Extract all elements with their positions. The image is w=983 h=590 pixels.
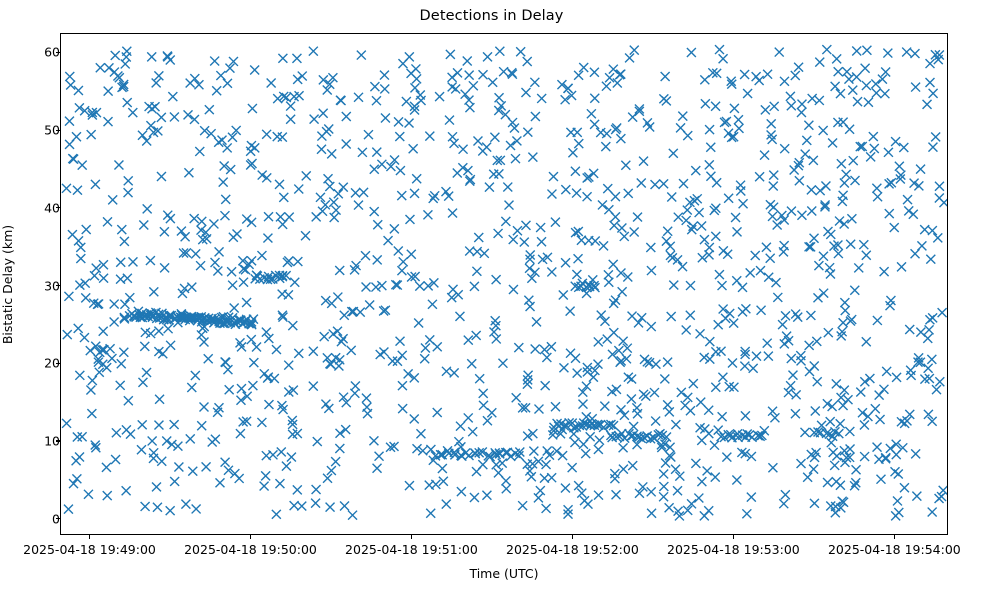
data-point (844, 75, 853, 84)
data-point (840, 298, 849, 307)
data-point (884, 148, 893, 157)
data-point (620, 411, 629, 420)
data-point (69, 479, 78, 488)
data-point (293, 75, 302, 84)
data-point (312, 212, 321, 221)
data-point (659, 492, 668, 501)
data-point (88, 376, 97, 385)
data-point (76, 254, 85, 263)
data-point (802, 136, 811, 145)
data-point (117, 225, 126, 234)
data-point (184, 110, 193, 119)
data-point (784, 388, 793, 397)
data-point (363, 409, 372, 418)
data-point-group (62, 45, 947, 520)
data-point (373, 464, 382, 473)
data-point (537, 94, 546, 103)
data-point (833, 118, 842, 127)
data-point (814, 261, 823, 270)
data-point (467, 359, 476, 368)
data-point (398, 404, 407, 413)
data-point (482, 491, 491, 500)
data-point (186, 434, 195, 443)
data-point (450, 139, 459, 148)
data-point (137, 445, 146, 454)
data-point (340, 501, 349, 510)
x-tick-mark (733, 535, 734, 539)
data-point (311, 499, 320, 508)
data-point (894, 469, 903, 478)
data-point (247, 218, 256, 227)
data-point (530, 78, 539, 87)
data-point (894, 508, 903, 517)
data-point (330, 213, 339, 222)
x-tick-mark (89, 535, 90, 539)
data-point (435, 92, 444, 101)
data-point (612, 490, 621, 499)
data-point (723, 250, 732, 259)
data-point (223, 79, 232, 88)
data-point (932, 385, 941, 394)
data-point (791, 71, 800, 80)
data-point (310, 115, 319, 124)
data-point (492, 275, 501, 284)
data-point (821, 200, 830, 209)
data-point (354, 93, 363, 102)
data-point (114, 161, 123, 170)
data-point (762, 243, 771, 252)
data-point (170, 112, 179, 121)
data-point (74, 236, 83, 245)
data-point (362, 394, 371, 403)
data-point (410, 83, 419, 92)
data-point (158, 349, 167, 358)
data-point (873, 316, 882, 325)
data-point (749, 364, 758, 373)
data-point (220, 211, 229, 220)
data-point (751, 251, 760, 260)
data-point (703, 466, 712, 475)
data-point (728, 358, 737, 367)
data-point (297, 502, 306, 511)
data-point (583, 363, 592, 372)
data-point (617, 405, 626, 414)
data-point (267, 79, 276, 88)
data-point (498, 459, 507, 468)
data-point (103, 491, 112, 500)
data-point (464, 336, 473, 345)
data-point (666, 443, 675, 452)
data-point (425, 132, 434, 141)
data-point (73, 186, 82, 195)
data-point (852, 465, 861, 474)
data-point (65, 117, 74, 126)
data-point (659, 179, 668, 188)
data-point (880, 267, 889, 276)
data-point (780, 77, 789, 86)
data-point (442, 367, 451, 376)
data-point (873, 192, 882, 201)
data-point (425, 481, 434, 490)
data-point (104, 87, 113, 96)
data-point (938, 308, 947, 317)
data-point (154, 71, 163, 80)
data-point (700, 75, 709, 84)
data-point (116, 258, 125, 267)
data-point (463, 57, 472, 66)
data-point (66, 81, 75, 90)
data-point (741, 411, 750, 420)
data-point (769, 182, 778, 191)
data-point (618, 287, 627, 296)
data-point (221, 358, 230, 367)
data-point (410, 414, 419, 423)
data-point (174, 463, 183, 472)
data-point (64, 292, 73, 301)
data-point (87, 130, 96, 139)
data-point (166, 341, 175, 350)
data-point (662, 237, 671, 246)
data-point (872, 89, 881, 98)
data-point (472, 331, 481, 340)
data-point (349, 307, 358, 316)
data-point (194, 80, 203, 89)
data-point (64, 505, 73, 514)
data-point (630, 46, 639, 55)
data-point (111, 51, 120, 60)
data-point (669, 149, 678, 158)
data-point (790, 166, 799, 175)
data-point (800, 428, 809, 437)
data-point (488, 78, 497, 87)
data-point (849, 156, 858, 165)
x-tick-mark (894, 535, 895, 539)
data-point (262, 130, 271, 139)
data-point (781, 311, 790, 320)
x-tick-mark (411, 535, 412, 539)
data-point (705, 125, 714, 134)
data-point (760, 151, 769, 160)
data-point (916, 328, 925, 337)
data-point (669, 281, 678, 290)
data-point (697, 477, 706, 486)
data-point (925, 78, 934, 87)
data-point (733, 227, 742, 236)
data-point (914, 181, 923, 190)
data-point (937, 492, 946, 501)
data-point (86, 386, 95, 395)
data-point (264, 373, 273, 382)
data-point (333, 327, 342, 336)
data-point (394, 117, 403, 126)
data-point (409, 144, 418, 153)
data-point (398, 59, 407, 68)
data-point (287, 453, 296, 462)
data-point (590, 68, 599, 77)
data-point (540, 474, 549, 483)
data-point (637, 313, 646, 322)
data-point (700, 235, 709, 244)
data-point (811, 407, 820, 416)
data-point (312, 485, 321, 494)
data-point (897, 262, 906, 271)
data-point (862, 337, 871, 346)
data-point (804, 121, 813, 130)
data-point (886, 444, 895, 453)
data-point (317, 145, 326, 154)
data-point (619, 465, 628, 474)
data-point (627, 375, 636, 384)
y-tick-label: 10 (20, 433, 60, 448)
data-point (455, 312, 464, 321)
data-point (425, 335, 434, 344)
data-point (609, 328, 618, 337)
data-point (351, 381, 360, 390)
data-point (247, 335, 256, 344)
data-point (689, 222, 698, 231)
data-point (474, 233, 483, 242)
data-point (682, 216, 691, 225)
data-point (911, 83, 920, 92)
data-point (227, 267, 236, 276)
data-point (119, 348, 128, 357)
data-point (835, 217, 844, 226)
data-point (155, 395, 164, 404)
data-point (487, 408, 496, 417)
data-point (542, 460, 551, 469)
data-point (326, 503, 335, 512)
data-point (506, 452, 515, 461)
data-point (380, 71, 389, 80)
data-point (904, 206, 913, 215)
data-point (479, 401, 488, 410)
data-point (528, 153, 537, 162)
data-point (364, 130, 373, 139)
data-point (523, 128, 532, 137)
data-point (120, 237, 129, 246)
data-point (470, 493, 479, 502)
data-point (862, 81, 871, 90)
data-point (73, 432, 82, 441)
data-point (787, 207, 796, 216)
data-point (667, 312, 676, 321)
data-point (148, 436, 157, 445)
data-point (667, 193, 676, 202)
data-point (319, 75, 328, 84)
data-point (678, 112, 687, 121)
data-point (632, 403, 641, 412)
data-point (574, 71, 583, 80)
data-point (501, 448, 510, 457)
data-point (903, 195, 912, 204)
data-point (561, 484, 570, 493)
x-axis-label: Time (UTC) (60, 566, 948, 581)
data-point (596, 128, 605, 137)
data-point (154, 421, 163, 430)
data-point (336, 429, 345, 438)
data-point (558, 451, 567, 460)
data-point (124, 176, 133, 185)
data-point (611, 192, 620, 201)
data-point (286, 115, 295, 124)
data-point (577, 236, 586, 245)
data-point (157, 113, 166, 122)
data-point (138, 378, 147, 387)
data-point (122, 486, 131, 495)
data-point (290, 278, 299, 287)
data-point (876, 475, 885, 484)
data-point (860, 421, 869, 430)
data-point (907, 371, 916, 380)
data-point (640, 355, 649, 364)
data-point (272, 510, 281, 519)
data-point (449, 285, 458, 294)
data-point (511, 154, 520, 163)
data-point (663, 227, 672, 236)
data-point (570, 438, 579, 447)
data-point (827, 438, 836, 447)
data-point (874, 455, 883, 464)
data-point (117, 359, 126, 368)
data-point (62, 184, 71, 193)
data-point (379, 347, 388, 356)
data-point (325, 182, 334, 191)
data-point (711, 383, 720, 392)
data-point (223, 143, 232, 152)
data-point (187, 383, 196, 392)
data-point (715, 270, 724, 279)
data-point (616, 134, 625, 143)
data-point (167, 440, 176, 449)
data-point (768, 463, 777, 472)
data-point (204, 354, 213, 363)
data-point (397, 191, 406, 200)
data-point (68, 154, 77, 163)
data-point (140, 342, 149, 351)
data-point (334, 189, 343, 198)
page-title: Detections in Delay (0, 8, 983, 24)
data-point (881, 453, 890, 462)
data-point (801, 150, 810, 159)
data-point (162, 436, 171, 445)
data-point (579, 440, 588, 449)
data-point (292, 54, 301, 63)
scatter-series (61, 34, 947, 534)
data-point (705, 337, 714, 346)
data-point (78, 432, 87, 441)
data-point (407, 69, 416, 78)
data-point (170, 477, 179, 486)
data-point (75, 371, 84, 380)
data-point (442, 500, 451, 509)
data-point (872, 184, 881, 193)
data-point (739, 199, 748, 208)
data-point (371, 283, 380, 292)
data-point (792, 390, 801, 399)
data-point (613, 79, 622, 88)
x-tick-label: 2025-04-18 19:53:00 (667, 542, 800, 557)
data-point (718, 373, 727, 382)
data-point (74, 324, 83, 333)
data-point (426, 509, 435, 518)
data-point (773, 293, 782, 302)
data-point (609, 260, 618, 269)
data-point (313, 437, 322, 446)
data-point (91, 180, 100, 189)
data-point (319, 109, 328, 118)
data-point (598, 200, 607, 209)
data-point (705, 160, 714, 169)
data-point (794, 63, 803, 72)
data-point (740, 70, 749, 79)
data-point (126, 430, 135, 439)
data-point (768, 407, 777, 416)
data-point (99, 327, 108, 336)
data-point (737, 448, 746, 457)
data-point (893, 496, 902, 505)
data-point (120, 300, 129, 309)
data-point (772, 278, 781, 287)
data-point (465, 103, 474, 112)
data-point (294, 349, 303, 358)
data-point (819, 126, 828, 135)
data-point (807, 207, 816, 216)
data-point (337, 96, 346, 105)
data-point (223, 365, 232, 374)
data-point (823, 227, 832, 236)
data-point (725, 382, 734, 391)
data-point (494, 229, 503, 238)
data-point (856, 142, 865, 151)
data-point (369, 436, 378, 445)
data-point (741, 304, 750, 313)
data-point (704, 506, 713, 515)
data-point (72, 456, 81, 465)
data-point (568, 148, 577, 157)
data-point (701, 99, 710, 108)
data-point (337, 337, 346, 346)
y-tick-label: 40 (20, 200, 60, 215)
data-point (710, 441, 719, 450)
data-point (780, 241, 789, 250)
data-point (840, 179, 849, 188)
data-point (492, 334, 501, 343)
data-point (272, 345, 281, 354)
data-point (456, 422, 465, 431)
data-point (743, 89, 752, 98)
data-point (578, 400, 587, 409)
data-point (428, 300, 437, 309)
data-point (862, 251, 871, 260)
data-point (547, 267, 556, 276)
data-point (869, 132, 878, 141)
data-point (479, 389, 488, 398)
data-point (160, 227, 169, 236)
data-point (320, 332, 329, 341)
data-point (696, 398, 705, 407)
data-point (84, 490, 93, 499)
data-point (809, 156, 818, 165)
data-point (883, 49, 892, 58)
data-point (718, 281, 727, 290)
data-point (384, 236, 393, 245)
data-point (102, 463, 111, 472)
data-point (141, 502, 150, 511)
data-point (604, 278, 613, 287)
y-tick-label: 20 (20, 356, 60, 371)
data-point (810, 234, 819, 243)
data-point (601, 142, 610, 151)
